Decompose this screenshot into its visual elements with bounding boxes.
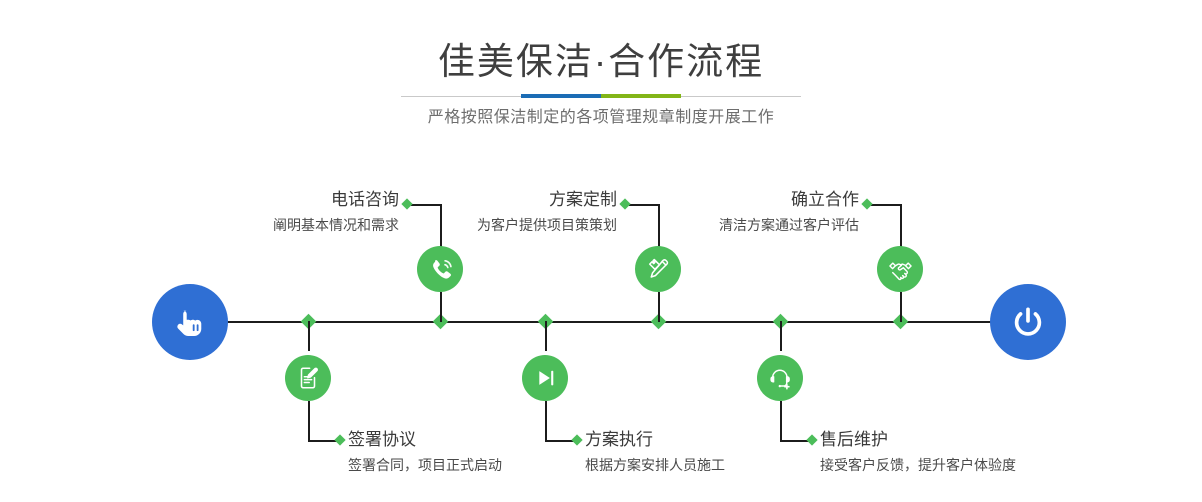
title-divider	[401, 94, 801, 98]
flowchart-page: 佳美保洁·合作流程 严格按照保洁制定的各项管理规章制度开展工作	[0, 0, 1202, 502]
phone-call-icon	[427, 256, 454, 283]
connector-step-2-stem	[308, 321, 310, 351]
connector-step-3-vertical	[658, 204, 660, 248]
headset-support-icon	[767, 365, 793, 391]
step-desc-6: 接受客户反馈，提升客户体验度	[820, 454, 1070, 476]
connector-step-5-stem	[900, 292, 902, 322]
connector-step-1-horizontal	[411, 204, 441, 206]
step-desc-1: 阐明基本情况和需求	[224, 214, 399, 236]
step-desc-4: 根据方案安排人员施工	[585, 454, 815, 476]
connector-step-3-stem	[658, 292, 660, 322]
connector-step-6-vertical	[780, 401, 782, 441]
connector-step-4-vertical	[545, 401, 547, 441]
connector-step-2-horizontal	[308, 440, 338, 442]
step-title-2: 签署协议	[348, 429, 578, 451]
connector-step-3-horizontal	[629, 204, 659, 206]
step-label-2: 签署协议 签署合同，项目正式启动	[348, 429, 578, 476]
pencil-ruler-icon	[645, 256, 671, 282]
pointing-hand-icon	[168, 300, 212, 344]
play-execute-icon	[532, 365, 558, 391]
connector-step-6-stem	[780, 321, 782, 351]
step-label-3: 方案定制 为客户提供项目策策划	[442, 189, 617, 236]
step-icon-1[interactable]	[417, 246, 463, 292]
connector-step-4-stem	[545, 321, 547, 351]
step-title-1: 电话咨询	[224, 189, 399, 211]
timeline-start-node	[152, 284, 228, 360]
label-marker-step-5	[861, 198, 872, 209]
step-icon-6[interactable]	[757, 355, 803, 401]
label-marker-step-3	[619, 198, 630, 209]
step-icon-5[interactable]	[877, 246, 923, 292]
handshake-icon	[887, 256, 914, 283]
step-desc-3: 为客户提供项目策策划	[442, 214, 617, 236]
connector-step-5-horizontal	[871, 204, 901, 206]
step-icon-2[interactable]	[285, 355, 331, 401]
step-label-5: 确立合作 清洁方案通过客户评估	[684, 189, 859, 236]
step-icon-4[interactable]	[522, 355, 568, 401]
connector-step-6-horizontal	[780, 440, 810, 442]
divider-green-segment	[601, 94, 681, 98]
document-edit-icon	[295, 365, 321, 391]
step-desc-5: 清洁方案通过客户评估	[684, 214, 859, 236]
connector-step-4-horizontal	[545, 440, 575, 442]
step-icon-3[interactable]	[635, 246, 681, 292]
step-title-6: 售后维护	[820, 429, 1070, 451]
step-label-1: 电话咨询 阐明基本情况和需求	[224, 189, 399, 236]
connector-step-1-stem	[440, 292, 442, 322]
label-marker-step-1	[401, 198, 412, 209]
page-subtitle: 严格按照保洁制定的各项管理规章制度开展工作	[0, 106, 1202, 130]
power-icon	[1007, 301, 1049, 343]
step-title-5: 确立合作	[684, 189, 859, 211]
page-title: 佳美保洁·合作流程	[0, 40, 1202, 84]
step-desc-2: 签署合同，项目正式启动	[348, 454, 578, 476]
step-title-3: 方案定制	[442, 189, 617, 211]
connector-step-2-vertical	[308, 401, 310, 441]
step-label-6: 售后维护 接受客户反馈，提升客户体验度	[820, 429, 1070, 476]
label-marker-step-2	[334, 434, 345, 445]
divider-blue-segment	[521, 94, 601, 98]
timeline-end-node	[990, 284, 1066, 360]
connector-step-5-vertical	[900, 204, 902, 248]
